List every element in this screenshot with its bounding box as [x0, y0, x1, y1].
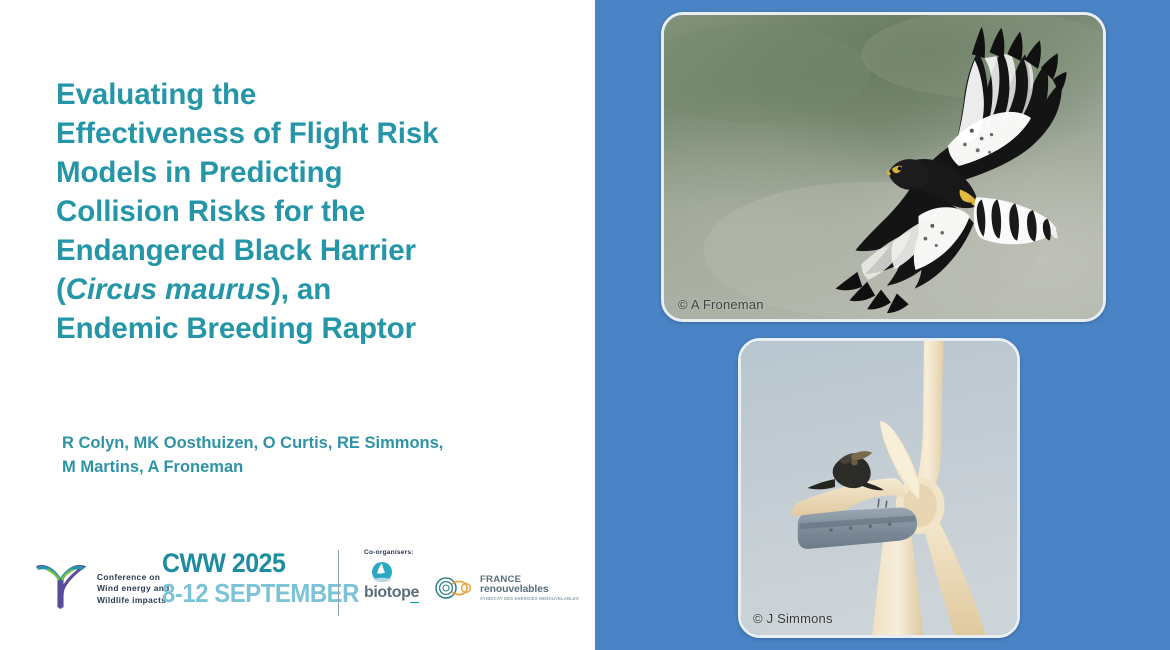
title-line-2: Effectiveness of Flight Risk [56, 117, 438, 150]
photo-wind-turbine: © J Simmons [738, 338, 1020, 638]
photo-black-harrier: © A Froneman [661, 12, 1106, 322]
title-line-3: Models in Predicting [56, 156, 342, 189]
france-renouvelables-infinity-icon [434, 575, 476, 601]
title-line-6-prefix: ( [56, 273, 66, 306]
author-line-2: M Martins, A Froneman [62, 458, 243, 476]
page-title: Evaluating the Effectiveness of Flight R… [56, 76, 556, 349]
footer-divider [338, 550, 339, 616]
author-line-1: R Colyn, MK Oosthuizen, O Curtis, RE Sim… [62, 434, 443, 452]
left-content-pane: Evaluating the Effectiveness of Flight R… [0, 0, 595, 650]
photo-credit-simmons: © J Simmons [753, 611, 833, 626]
cww-year-label: CWW 2025 [162, 550, 359, 577]
photo-credit-froneman: © A Froneman [678, 297, 764, 312]
france-line-2: renouvelables [480, 585, 579, 596]
title-line-1: Evaluating the [56, 78, 256, 111]
species-name-italic: Circus maurus [66, 273, 271, 306]
title-line-6-suffix: ), an [271, 273, 331, 306]
authors-block: R Colyn, MK Oosthuizen, O Curtis, RE Sim… [62, 432, 582, 480]
conference-logo-line-2: Wind energy and [97, 583, 170, 594]
biotope-wordmark: biotope [364, 585, 426, 601]
footer-logo-bar: Conference on Wind energy and Wildlife i… [0, 542, 595, 650]
conference-logo-wordmark: Conference on Wind energy and Wildlife i… [97, 558, 170, 606]
biotope-logo: biotope [364, 560, 426, 601]
cww-y-mark-icon [32, 554, 88, 610]
right-image-pane: © A Froneman [595, 0, 1170, 650]
biotope-name-underlined: e [410, 584, 419, 603]
title-line-5: Endangered Black Harrier [56, 234, 416, 267]
coorganisers-label: Co-organisers: [364, 549, 426, 556]
cww-wordmark: CWW 2025 8-12 SEPTEMBER [162, 550, 376, 606]
biotope-leaf-icon [370, 560, 394, 584]
title-slide: Evaluating the Effectiveness of Flight R… [0, 0, 1170, 650]
conference-logo-line-1: Conference on [97, 572, 170, 583]
france-line-3: SYNDICAT DES ENERGIES RENOUVELABLES [480, 597, 579, 601]
conference-logo-line-3: Wildlife impacts [97, 595, 170, 606]
france-renouvelables-wordmark: FRANCE renouvelables SYNDICAT DES ENERGI… [480, 575, 579, 601]
title-line-7: Endemic Breeding Raptor [56, 312, 416, 345]
cww-dates-label: 8-12 SEPTEMBER [162, 580, 359, 606]
author-list: R Colyn, MK Oosthuizen, O Curtis, RE Sim… [62, 432, 582, 480]
biotope-name: biotop [364, 584, 410, 601]
wind-turbine-illustration [741, 341, 1017, 635]
conference-logo: Conference on Wind energy and Wildlife i… [32, 554, 170, 610]
coorganisers-block: Co-organisers: biotope [364, 549, 426, 601]
france-renouvelables-logo: FRANCE renouvelables SYNDICAT DES ENERGI… [434, 575, 579, 601]
title-block: Evaluating the Effectiveness of Flight R… [56, 76, 556, 349]
black-harrier-illustration [664, 15, 1103, 319]
title-line-4: Collision Risks for the [56, 195, 365, 228]
